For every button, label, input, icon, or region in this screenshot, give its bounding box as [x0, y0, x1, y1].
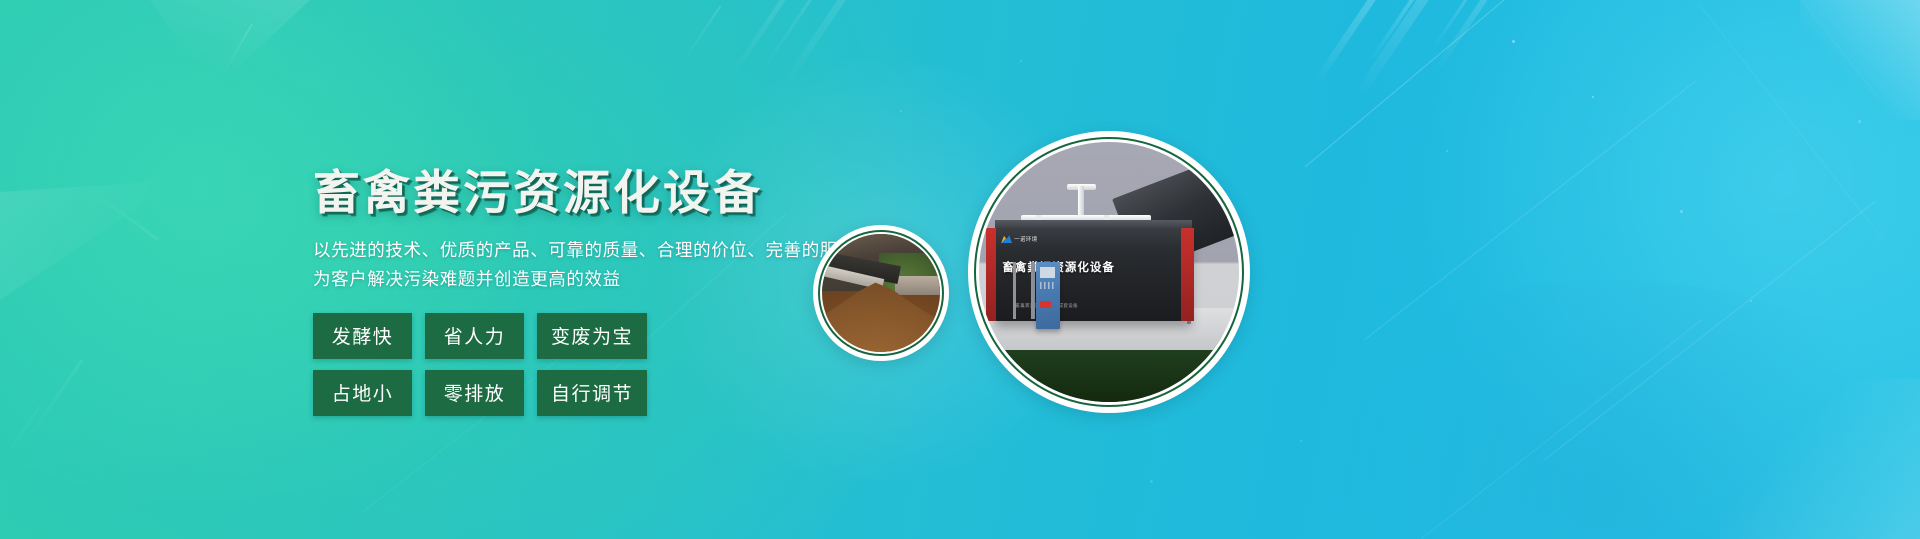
feature-tag-row-2: 占地小 零排放 自行调节 — [313, 370, 673, 416]
corner-shard-top-left — [150, 0, 310, 90]
sparkle-speck — [1150, 480, 1153, 483]
corner-shard-left — [0, 180, 180, 300]
compost-photo-circle[interactable] — [813, 225, 949, 361]
feature-tag-list: 发酵快 省人力 变废为宝 占地小 零排放 自行调节 — [313, 313, 673, 416]
sparkle-speck — [900, 110, 902, 112]
light-ray-3 — [1353, 0, 1468, 100]
accent-line-4 — [1418, 319, 1702, 539]
accent-line-3 — [1544, 201, 1876, 460]
sparkle-speck — [1592, 96, 1594, 98]
feature-tag-zero-emission[interactable]: 零排放 — [425, 370, 524, 416]
background-glow-right — [1400, 0, 1920, 539]
background-glow-bottom-right — [1260, 280, 1920, 539]
corner-shard-bottom-right — [1720, 379, 1920, 539]
light-ray-10 — [221, 24, 253, 77]
feature-tag-row-1: 发酵快 省人力 变废为宝 — [313, 313, 673, 359]
light-ray-11 — [84, 185, 159, 240]
light-ray-6 — [727, 0, 798, 81]
circle-ring-green — [974, 137, 1244, 407]
feature-tag-self-adjusting[interactable]: 自行调节 — [537, 370, 647, 416]
feature-tag-saves-labor[interactable]: 省人力 — [425, 313, 524, 359]
accent-line-2 — [1364, 81, 1696, 340]
accent-line-8 — [1742, 0, 1878, 97]
light-ray-5 — [1433, 0, 1533, 73]
corner-shard-top-right — [1800, 0, 1920, 120]
hero-banner: 畜禽粪污资源化设备 以先进的技术、优质的产品、可靠的质量、合理的价位、完善的服务… — [0, 0, 1920, 539]
page-title: 畜禽粪污资源化设备 — [313, 165, 933, 220]
equipment-photo-circle[interactable]: 一诺环境 畜禽粪污资源化设备 畜禽粪污资源化处理成套设备 — [968, 131, 1250, 413]
feature-tag-waste-to-treasure[interactable]: 变废为宝 — [537, 313, 647, 359]
light-ray-7 — [764, 0, 820, 68]
feature-tag-fermentation-fast[interactable]: 发酵快 — [313, 313, 412, 359]
accent-line-1 — [1305, 0, 1535, 167]
light-ray-2 — [1369, 0, 1434, 62]
accent-line-7 — [1697, 2, 1882, 239]
light-ray-12 — [20, 359, 84, 452]
circle-ring-green — [818, 230, 944, 356]
sparkle-speck — [1020, 60, 1022, 62]
sparkle-speck — [1750, 300, 1752, 302]
light-ray-13 — [0, 406, 40, 473]
light-ray-9 — [681, 5, 722, 64]
feature-tag-small-footprint[interactable]: 占地小 — [313, 370, 412, 416]
sparkle-speck — [1512, 40, 1515, 43]
sparkle-speck — [1300, 440, 1302, 442]
light-ray-1 — [1312, 0, 1402, 86]
sparkle-speck — [1446, 150, 1448, 152]
light-ray-4 — [1431, 0, 1501, 50]
sparkle-speck — [1680, 210, 1683, 213]
sparkle-speck — [1858, 120, 1861, 123]
light-ray-8 — [779, 0, 863, 90]
